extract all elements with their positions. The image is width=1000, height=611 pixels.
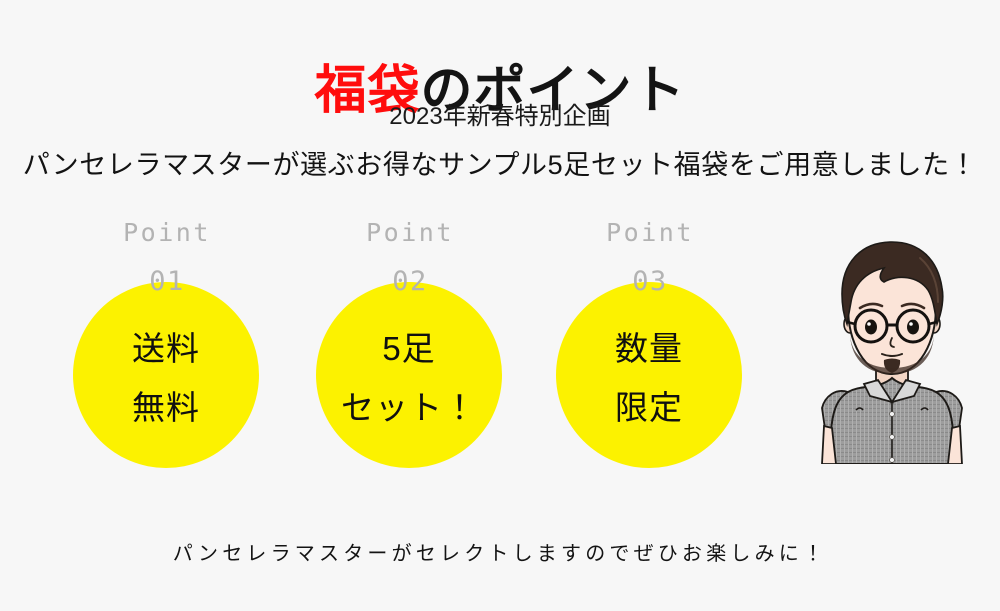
point-word-label: Point [47,218,287,247]
point-circle-line2: セット！ [341,391,477,424]
right-eye [907,320,919,335]
point-circle-line2: 無料 [132,391,200,424]
point-item-03: Point 03 数量 限定 [530,218,770,478]
point-circle-03: 数量 限定 [556,282,742,468]
left-eye [865,320,877,335]
point-number-label: 01 [47,266,287,297]
point-word-label: Point [290,218,530,247]
point-number-label: 02 [290,266,530,297]
shirt-button [890,458,895,463]
left-eye-highlight [867,322,871,326]
right-eye-highlight [909,322,913,326]
point-item-01: Point 01 送料 無料 [47,218,287,478]
point-circle-line2: 限定 [615,391,683,424]
point-circle-02: 5足 セット！ [316,282,502,468]
person-illustration [792,232,992,472]
point-circle-line1: 数量 [615,332,683,365]
point-item-02: Point 02 5足 セット！ [290,218,530,478]
point-circle-01: 送料 無料 [73,282,259,468]
points-group: Point 01 送料 無料 Point 02 5足 セット！ Point 03… [0,218,760,478]
shirt-button [890,412,895,417]
footer-note: パンセレラマスターがセレクトしますのでぜひお楽しみに！ [0,537,1000,566]
point-word-label: Point [530,218,770,247]
point-circle-line1: 送料 [132,332,200,365]
point-circle-line1: 5足 [382,332,435,365]
page-root: 福袋のポイント 2023年新春特別企画 パンセレラマスターが選ぶお得なサンプル5… [0,0,1000,611]
page-subtitle: 2023年新春特別企画 [0,96,1000,131]
point-number-label: 03 [530,266,770,297]
shirt-button [890,435,895,440]
lead-text: パンセレラマスターが選ぶお得なサンプル5足セット福袋をご用意しました！ [0,143,1000,182]
